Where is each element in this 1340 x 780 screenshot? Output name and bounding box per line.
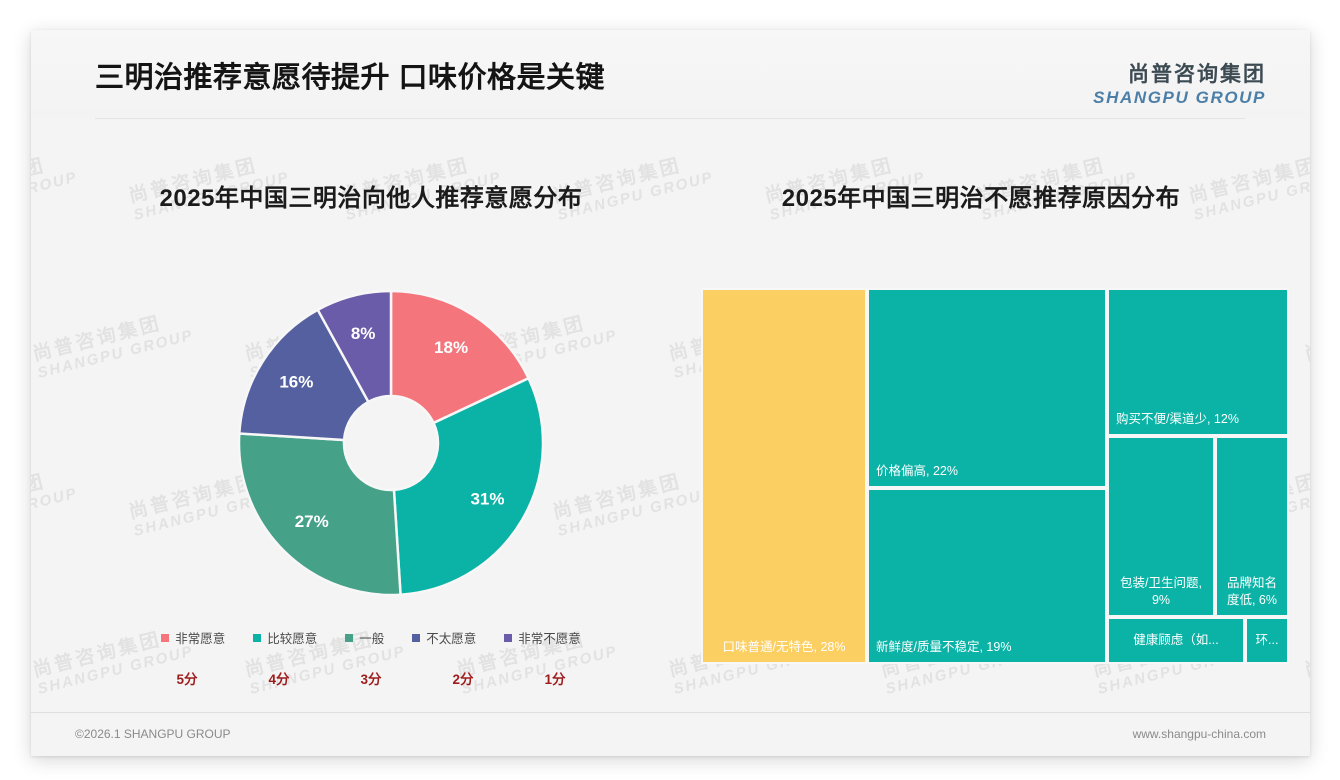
donut-slice-label: 18% <box>434 338 468 357</box>
donut-slice-label: 8% <box>351 324 376 343</box>
donut-score-row: 5分4分3分2分1分 <box>79 668 663 688</box>
chart-title-treemap: 2025年中国三明治不愿推荐原因分布 <box>671 178 1291 213</box>
treemap-cell[interactable]: 新鲜度/质量不稳定, 19% <box>867 488 1107 664</box>
treemap-cell[interactable]: 健康顾虑（如... <box>1107 617 1245 664</box>
legend-swatch-icon <box>345 634 353 642</box>
legend-item[interactable]: 一般 <box>345 628 384 647</box>
header-divider <box>95 118 1245 119</box>
slide-footer: ©2026.1 SHANGPU GROUP www.shangpu-china.… <box>31 713 1310 756</box>
watermark-text: 尚普咨询集团SHANGPU GROUP <box>1303 307 1310 381</box>
legend-item[interactable]: 非常愿意 <box>161 628 225 647</box>
treemap-cell[interactable]: 价格偏高, 22% <box>867 288 1107 488</box>
treemap-cell-label: 价格偏高, 22% <box>869 463 1105 486</box>
treemap-cell-label: 新鲜度/质量不稳定, 19% <box>869 639 1105 662</box>
watermark-text: 尚普咨询集团SHANGPU GROUP <box>1303 623 1310 697</box>
legend-score-label: 1分 <box>509 668 601 688</box>
donut-slice-label: 27% <box>295 512 329 531</box>
legend-label: 比较愿意 <box>267 628 317 647</box>
brand-logo: 尚普咨询集团 SHANGPU GROUP <box>1093 64 1266 106</box>
slide-header: 三明治推荐意愿待提升 口味价格是关键 尚普咨询集团 SHANGPU GROUP <box>31 30 1310 118</box>
screenshot-canvas: 尚普咨询集团SHANGPU GROUP尚普咨询集团SHANGPU GROUP尚普… <box>0 0 1340 780</box>
logo-english-text: SHANGPU GROUP <box>1093 89 1266 106</box>
slide-card: 尚普咨询集团SHANGPU GROUP尚普咨询集团SHANGPU GROUP尚普… <box>31 30 1310 756</box>
donut-chart: 18%31%27%16%8% <box>233 285 549 601</box>
treemap-cell-label: 环... <box>1247 632 1287 649</box>
legend-label: 非常不愿意 <box>518 628 581 647</box>
footer-copyright: ©2026.1 SHANGPU GROUP <box>75 727 231 741</box>
legend-item[interactable]: 比较愿意 <box>253 628 317 647</box>
donut-slice-label: 31% <box>470 490 504 509</box>
logo-chinese-text: 尚普咨询集团 <box>1093 64 1266 85</box>
treemap-cell[interactable]: 品牌知名度低, 6% <box>1215 436 1289 617</box>
legend-item[interactable]: 不太愿意 <box>412 628 476 647</box>
donut-chart-svg: 18%31%27%16%8% <box>233 285 549 601</box>
donut-slice-label: 16% <box>279 372 313 391</box>
legend-swatch-icon <box>504 634 512 642</box>
treemap-chart: 口味普通/无特色, 28%价格偏高, 22%新鲜度/质量不稳定, 19%购买不便… <box>701 288 1289 664</box>
treemap-cell-label: 包装/卫生问题, 9% <box>1109 575 1213 615</box>
legend-swatch-icon <box>412 634 420 642</box>
legend-score-label: 2分 <box>417 668 509 688</box>
treemap-cell[interactable]: 包装/卫生问题, 9% <box>1107 436 1215 617</box>
page-title: 三明治推荐意愿待提升 口味价格是关键 <box>95 54 605 96</box>
panel-recommendation-willingness: 2025年中国三明治向他人推荐意愿分布 18%31%27%16%8% 非常愿意比… <box>71 150 671 710</box>
donut-legend: 非常愿意比较愿意一般不太愿意非常不愿意 <box>79 628 663 647</box>
treemap-cell-label: 品牌知名度低, 6% <box>1217 575 1287 615</box>
legend-item[interactable]: 非常不愿意 <box>504 628 581 647</box>
chart-title-donut: 2025年中国三明治向他人推荐意愿分布 <box>71 178 671 213</box>
legend-score-label: 3分 <box>325 668 417 688</box>
panel-refusal-reasons: 2025年中国三明治不愿推荐原因分布 口味普通/无特色, 28%价格偏高, 22… <box>671 150 1291 710</box>
legend-label: 非常愿意 <box>175 628 225 647</box>
donut-slice[interactable] <box>394 378 543 594</box>
legend-score-label: 5分 <box>141 668 233 688</box>
treemap-cell-label: 健康顾虑（如... <box>1109 632 1243 649</box>
footer-website: www.shangpu-china.com <box>1133 727 1266 741</box>
treemap-cell[interactable]: 环... <box>1245 617 1289 664</box>
legend-label: 不太愿意 <box>426 628 476 647</box>
legend-score-label: 4分 <box>233 668 325 688</box>
treemap-cell-label: 购买不便/渠道少, 12% <box>1109 411 1287 434</box>
legend-swatch-icon <box>161 634 169 642</box>
treemap-cell[interactable]: 口味普通/无特色, 28% <box>701 288 867 664</box>
treemap-cell[interactable]: 购买不便/渠道少, 12% <box>1107 288 1289 436</box>
legend-swatch-icon <box>253 634 261 642</box>
legend-label: 一般 <box>359 628 384 647</box>
treemap-cell-label: 口味普通/无特色, 28% <box>703 639 865 662</box>
